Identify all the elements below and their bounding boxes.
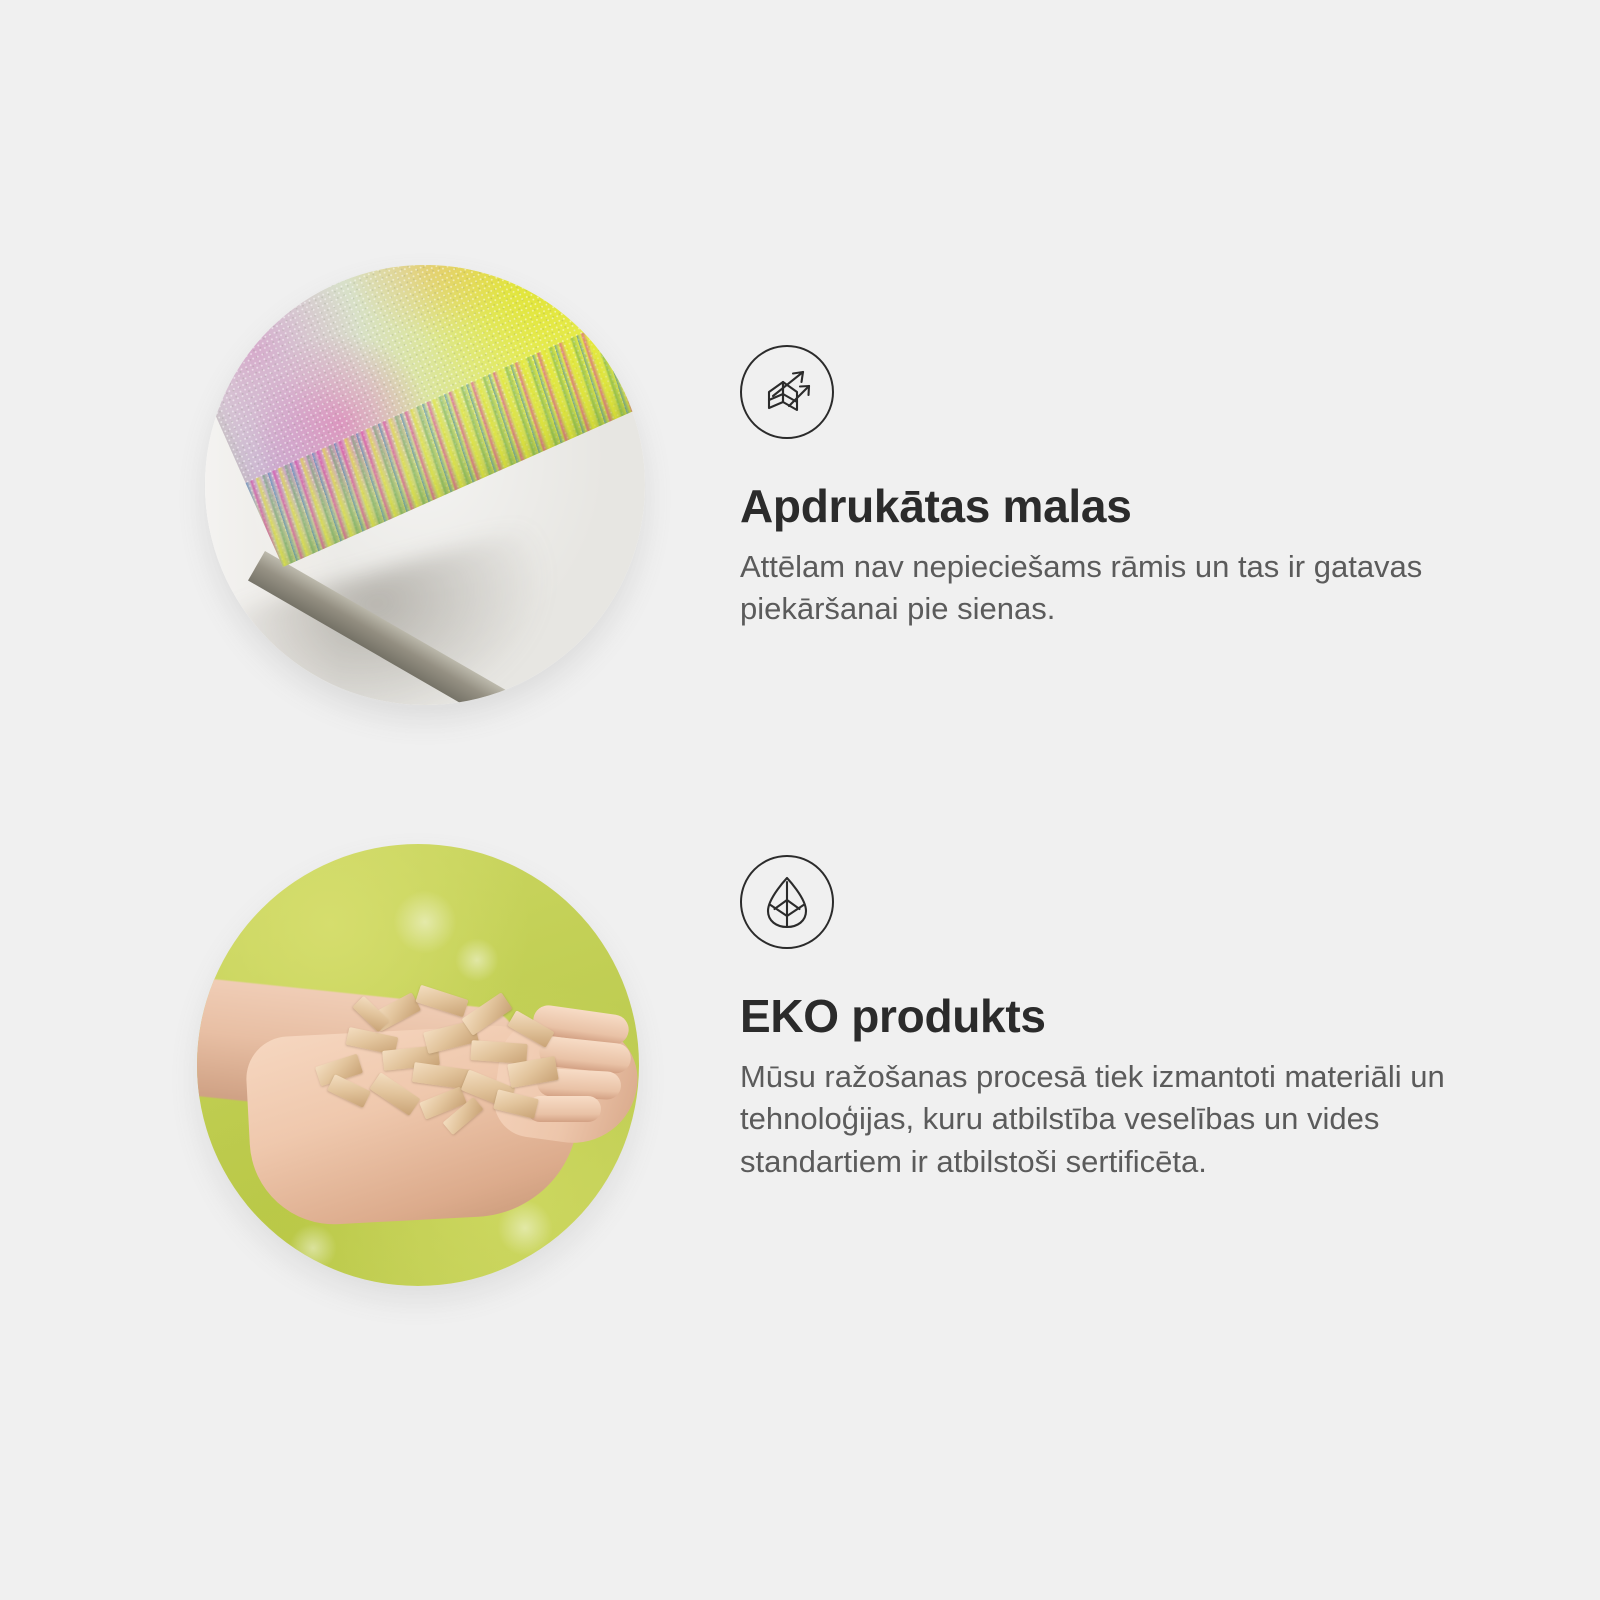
feature-title: EKO produkts [740,991,1500,1042]
feature-eco-product: EKO produkts Mūsu ražošanas procesā tiek… [0,830,1600,1330]
bokeh-spot [393,890,457,954]
printed-edges-media-wrap [185,245,655,715]
feature-description: Attēlam nav nepieciešams rāmis un tas ir… [740,546,1460,632]
printed-edges-image [205,265,645,705]
bokeh-spot [455,938,499,982]
wood-chips [313,986,563,1126]
feature-description: Mūsu ražošanas procesā tiek izmantoti ma… [740,1056,1460,1184]
canvas-wrapped-edge-icon [740,345,834,439]
feature-title: Apdrukātas malas [740,481,1500,532]
feature-page: Apdrukātas malas Attēlam nav nepieciešam… [0,0,1600,1600]
leaf-icon [740,855,834,949]
bokeh-spot [289,1224,337,1272]
feature-printed-edges: Apdrukātas malas Attēlam nav nepieciešam… [0,245,1600,745]
eco-product-media-wrap [185,830,655,1300]
eco-product-text: EKO produkts Mūsu ražošanas procesā tiek… [740,830,1500,1184]
printed-edges-text: Apdrukātas malas Attēlam nav nepieciešam… [740,245,1500,631]
eco-product-image [197,844,639,1286]
